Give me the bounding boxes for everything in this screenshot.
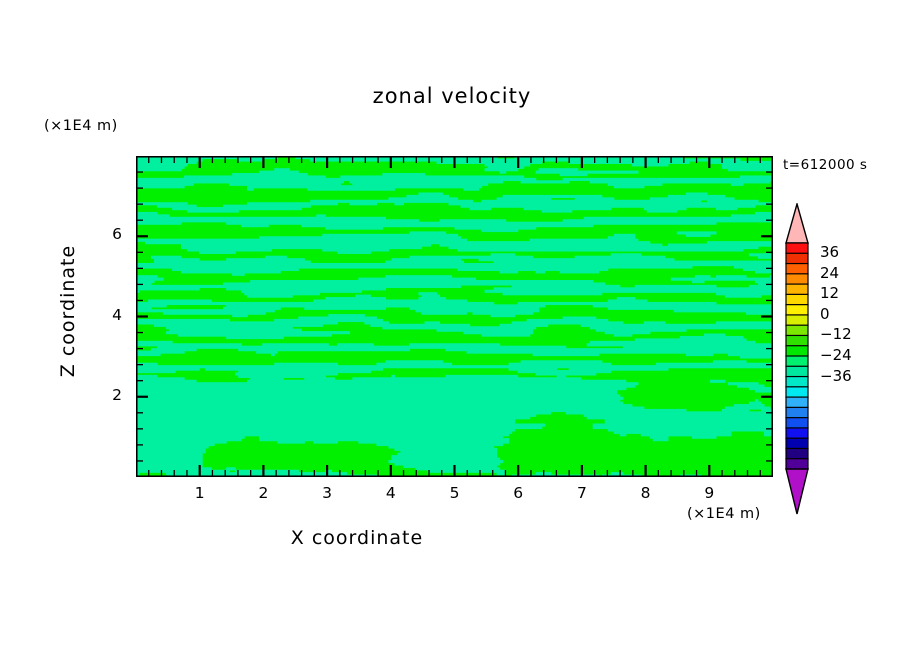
colorbar-cell — [786, 428, 808, 439]
colorbar-cell — [786, 407, 808, 418]
colorbar-cell — [786, 264, 808, 275]
colorbar-cell — [786, 243, 808, 254]
x-tick-label: 6 — [496, 484, 540, 502]
colorbar-cell — [786, 418, 808, 429]
colorbar-label: −24 — [820, 346, 852, 364]
colorbar-cell — [786, 274, 808, 285]
x-tick-label: 2 — [241, 484, 285, 502]
x-axis-unit-label: (×1E4 m) — [687, 506, 761, 522]
colorbar-cell — [786, 253, 808, 264]
colorbar-label: 24 — [820, 264, 839, 282]
x-tick-label: 9 — [687, 484, 731, 502]
x-tick-label: 7 — [560, 484, 604, 502]
colorbar-cell — [786, 325, 808, 336]
x-tick-label: 8 — [624, 484, 668, 502]
colorbar-cell — [786, 315, 808, 326]
y-tick-label: 6 — [90, 225, 122, 243]
colorbar-label: −36 — [820, 367, 852, 385]
colorbar: 3624120−12−24−36 — [780, 203, 900, 515]
colorbar-cell — [786, 459, 808, 470]
colorbar-extend-max — [786, 204, 808, 243]
colorbar-cell — [786, 305, 808, 316]
x-tick-label: 3 — [305, 484, 349, 502]
colorbar-label: −12 — [820, 325, 852, 343]
y-axis-title: Z coordinate — [57, 221, 79, 401]
contour-plot-area — [136, 156, 773, 477]
colorbar-cell — [786, 284, 808, 295]
colorbar-label: 0 — [820, 305, 830, 323]
contour-field — [136, 156, 773, 477]
y-tick-label: 4 — [90, 306, 122, 324]
colorbar-cell — [786, 397, 808, 408]
x-axis-title: X coordinate — [0, 527, 714, 549]
colorbar-cell — [786, 366, 808, 377]
colorbar-cell — [786, 377, 808, 388]
colorbar-extend-min — [786, 469, 808, 514]
colorbar-label: 36 — [820, 243, 839, 261]
y-tick-label: 2 — [90, 386, 122, 404]
x-tick-label: 5 — [433, 484, 477, 502]
chart-title: zonal velocity — [0, 84, 904, 108]
y-axis-unit-label: (×1E4 m) — [44, 118, 118, 134]
colorbar-cell — [786, 438, 808, 449]
colorbar-cell — [786, 387, 808, 398]
colorbar-cell — [786, 346, 808, 357]
colorbar-cell — [786, 335, 808, 346]
x-tick-label: 4 — [369, 484, 413, 502]
colorbar-cell — [786, 448, 808, 459]
time-annotation: t=612000 s — [783, 157, 867, 173]
x-tick-label: 1 — [178, 484, 222, 502]
colorbar-cell — [786, 356, 808, 367]
colorbar-cell — [786, 294, 808, 305]
colorbar-label: 12 — [820, 284, 839, 302]
